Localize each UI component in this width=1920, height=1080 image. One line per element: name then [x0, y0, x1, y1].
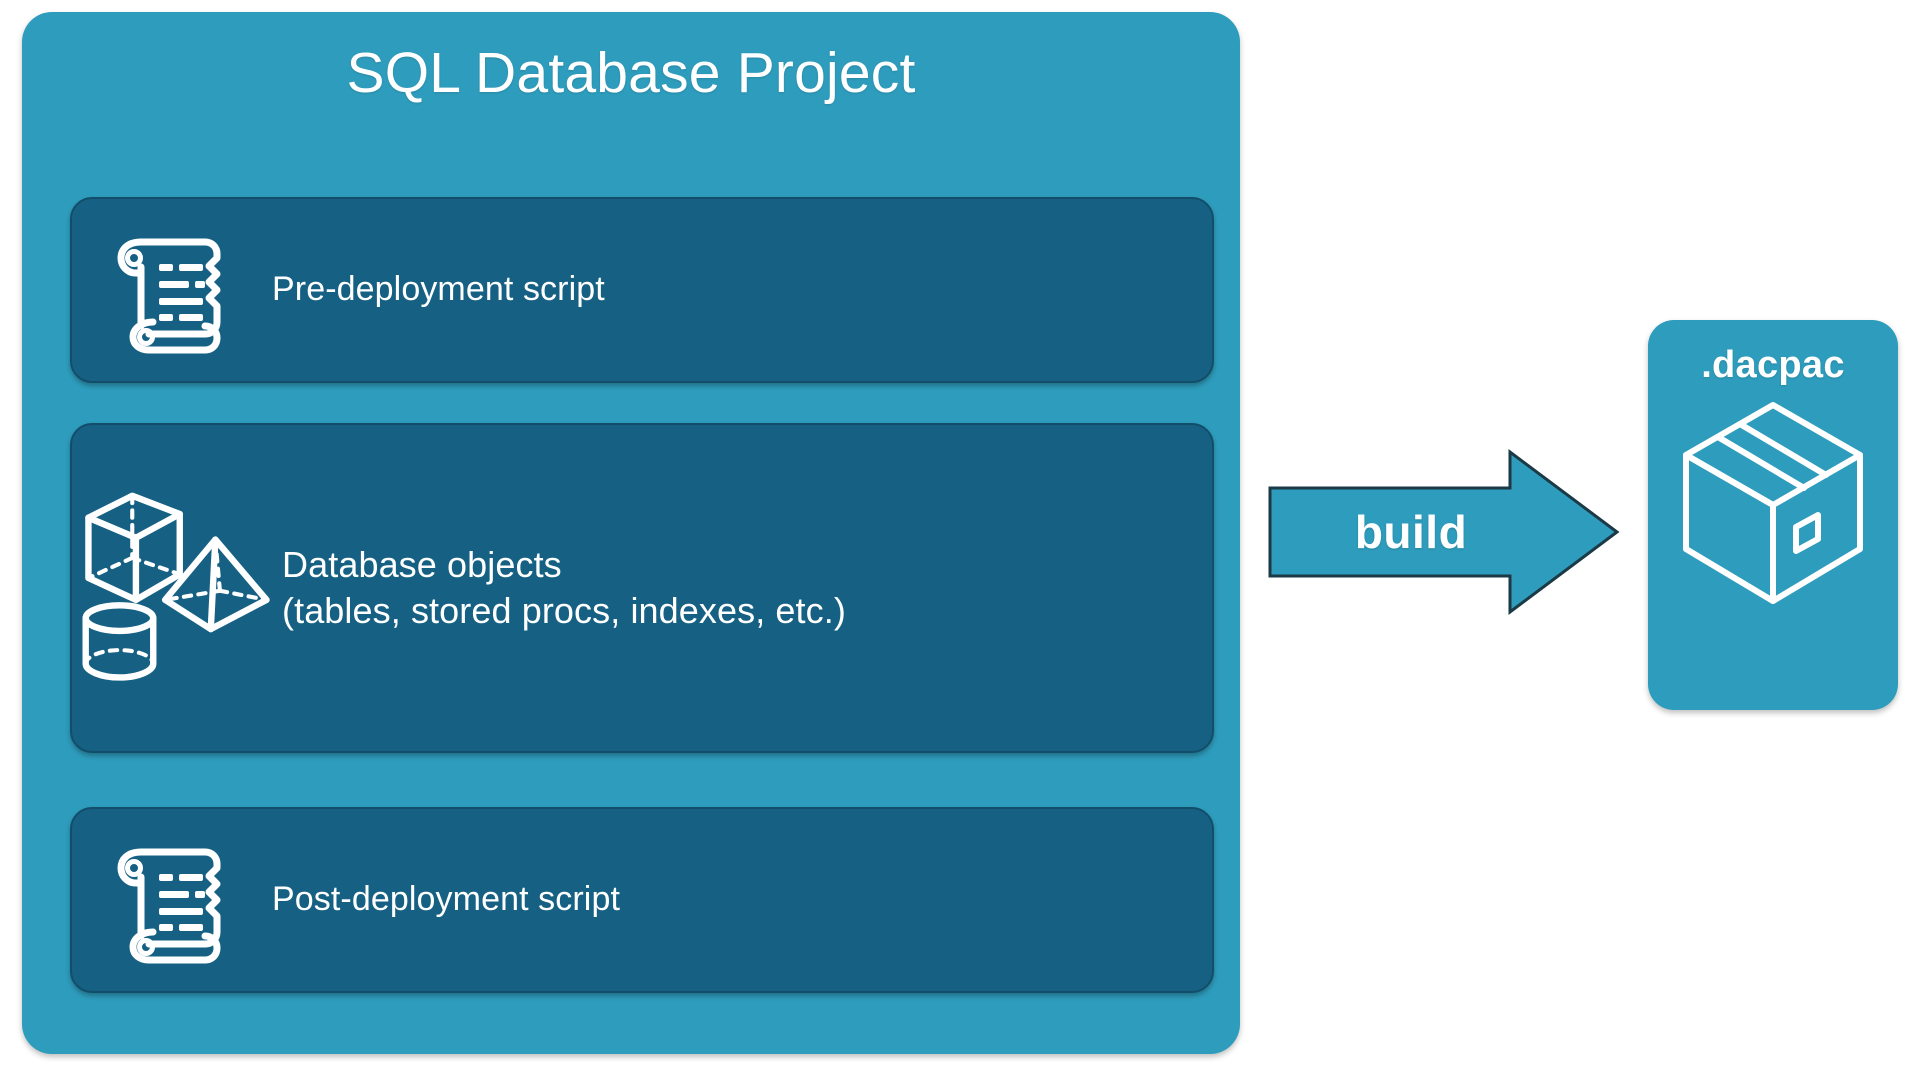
- card-post-deployment-script[interactable]: Post-deployment script: [70, 807, 1214, 993]
- card-label: Pre-deployment script: [272, 268, 605, 312]
- card-label: Database objects (tables, stored procs, …: [282, 542, 846, 634]
- scroll-icon: [72, 836, 272, 964]
- package-box-icon: [1680, 399, 1866, 614]
- scroll-icon: [72, 226, 272, 354]
- card-database-objects[interactable]: Database objects (tables, stored procs, …: [70, 423, 1214, 753]
- 3d-shapes-icon: [72, 473, 282, 703]
- dacpac-output-box[interactable]: .dacpac: [1648, 320, 1898, 710]
- right-arrow-icon: [1268, 448, 1620, 616]
- card-label: Post-deployment script: [272, 878, 620, 922]
- page-title: SQL Database Project: [22, 42, 1240, 105]
- card-pre-deployment-script[interactable]: Pre-deployment script: [70, 197, 1214, 383]
- build-arrow: build: [1268, 448, 1620, 616]
- dacpac-label: .dacpac: [1701, 344, 1845, 387]
- sql-database-project-container: SQL Database Project: [22, 12, 1240, 1054]
